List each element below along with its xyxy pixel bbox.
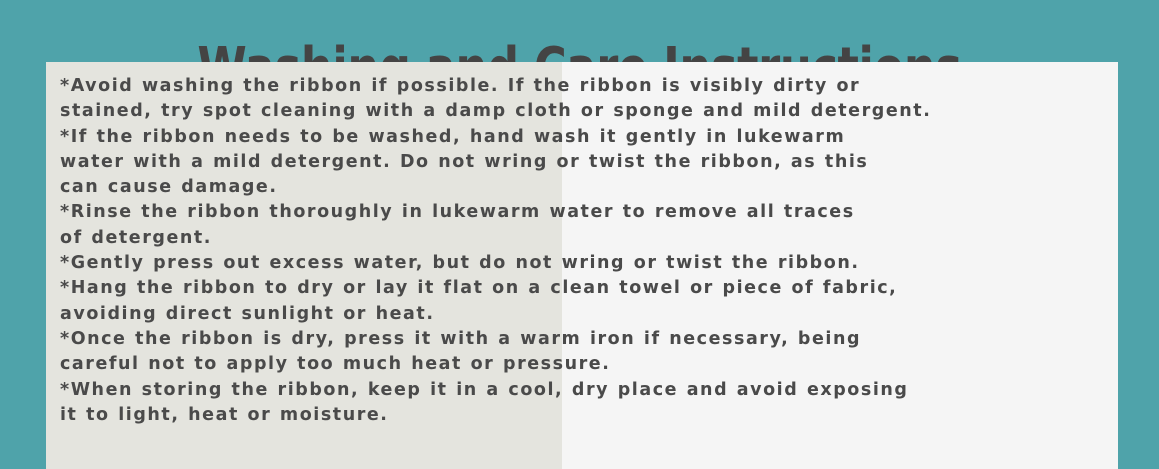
instruction-line: careful not to apply too much heat or pr… — [60, 352, 1112, 377]
instruction-line: *When storing the ribbon, keep it in a c… — [60, 378, 1112, 403]
instruction-line: it to light, heat or moisture. — [60, 403, 1112, 428]
instructions-card: *Avoid washing the ribbon if possible. I… — [46, 62, 1118, 469]
instruction-line: can cause damage. — [60, 175, 1112, 200]
instruction-line: water with a mild detergent. Do not wrin… — [60, 150, 1112, 175]
instruction-line: *Rinse the ribbon thoroughly in lukewarm… — [60, 200, 1112, 225]
poster-root: Washing and Care Instructions *Avoid was… — [0, 0, 1159, 469]
instruction-line: avoiding direct sunlight or heat. — [60, 302, 1112, 327]
instruction-line: *Avoid washing the ribbon if possible. I… — [60, 74, 1112, 99]
instructions-text-block: *Avoid washing the ribbon if possible. I… — [60, 74, 1112, 428]
instruction-line: *Gently press out excess water, but do n… — [60, 251, 1112, 276]
instruction-line: stained, try spot cleaning with a damp c… — [60, 99, 1112, 124]
instruction-line: of detergent. — [60, 226, 1112, 251]
instruction-line: *If the ribbon needs to be washed, hand … — [60, 125, 1112, 150]
instruction-line: *Hang the ribbon to dry or lay it flat o… — [60, 276, 1112, 301]
instruction-line: *Once the ribbon is dry, press it with a… — [60, 327, 1112, 352]
